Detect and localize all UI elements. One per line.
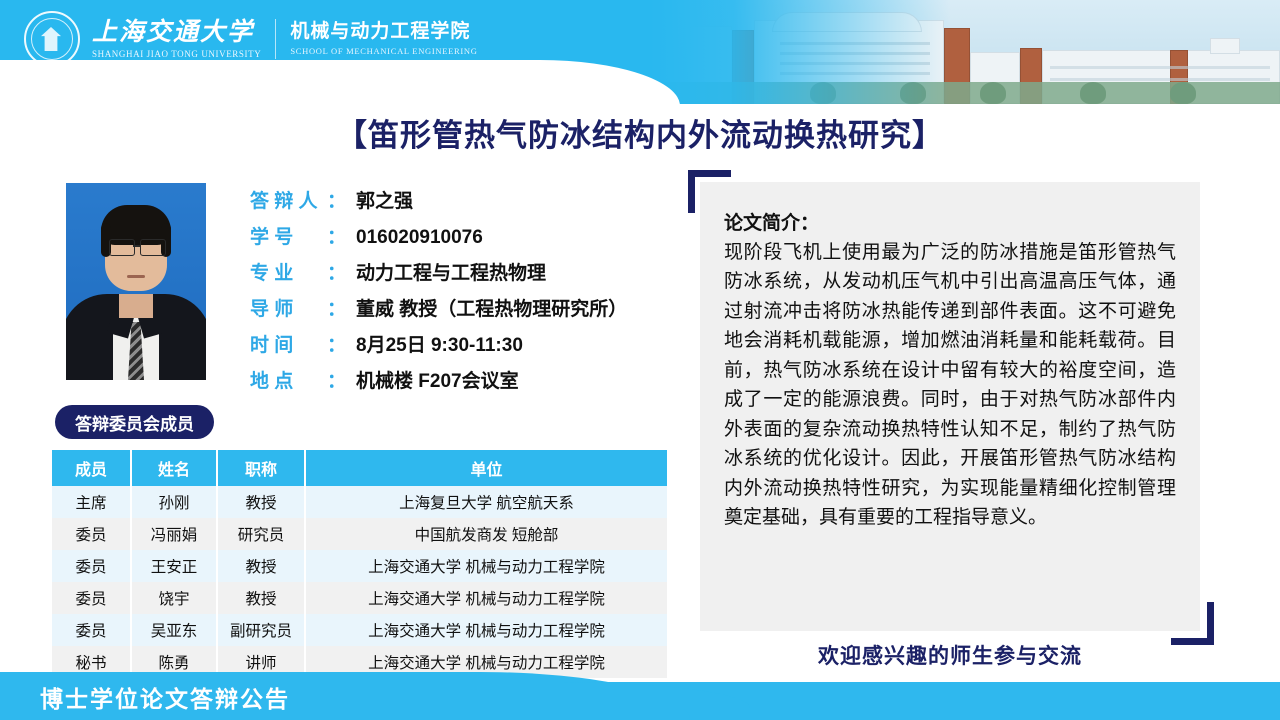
info-label-text: 学 号 [250, 222, 293, 249]
cell-name: 冯丽娟 [131, 518, 217, 550]
photo-tree [1080, 82, 1106, 104]
campus-building-photo [650, 0, 1280, 104]
header-curve-mask [0, 60, 680, 104]
column-header-name: 姓名 [131, 450, 217, 486]
info-row-time: 时 间 ： 8月25日 9:30-11:30 [250, 330, 710, 357]
university-name-cn: 上海交通大学 [92, 20, 261, 45]
portrait-mouth [127, 275, 145, 278]
cell-title: 研究员 [217, 518, 305, 550]
abstract-heading: 论文简介： [724, 208, 1176, 235]
committee-table: 成员 姓名 职称 单位 主席 孙刚 教授 上海复旦大学 航空航天系 委员 冯丽娟… [52, 450, 667, 678]
cell-title: 教授 [217, 582, 305, 614]
portrait-glasses-bridge [133, 245, 140, 247]
info-label-text: 导 师 [250, 294, 293, 321]
table-row: 主席 孙刚 教授 上海复旦大学 航空航天系 [52, 486, 667, 518]
cell-name: 孙刚 [131, 486, 217, 518]
info-label: 导 师 ： [250, 294, 346, 321]
info-label: 学 号 ： [250, 222, 346, 249]
cell-affiliation: 上海交通大学 机械与动力工程学院 [305, 582, 667, 614]
table-row: 委员 冯丽娟 研究员 中国航发商发 短舱部 [52, 518, 667, 550]
cell-affiliation: 上海交通大学 机械与动力工程学院 [305, 550, 667, 582]
info-label-text: 时 间 [250, 330, 293, 357]
info-value: 016020910076 [356, 227, 483, 249]
photo-tree [980, 82, 1006, 104]
abstract-body: 现阶段飞机上使用最为广泛的防冰措施是笛形管热气防冰系统，从发动机压气机中引出高温… [724, 238, 1176, 532]
portrait-neck [119, 294, 153, 318]
table-row: 委员 吴亚东 副研究员 上海交通大学 机械与动力工程学院 [52, 614, 667, 646]
cell-name: 吴亚东 [131, 614, 217, 646]
info-label: 时 间 ： [250, 330, 346, 357]
cell-title: 教授 [217, 550, 305, 582]
info-label-text: 地 点 [250, 366, 293, 393]
cell-affiliation: 上海复旦大学 航空航天系 [305, 486, 667, 518]
info-label: 地 点 ： [250, 366, 346, 393]
cell-member: 委员 [52, 582, 131, 614]
info-row-advisor: 导 师 ： 董威 教授（工程热物理研究所） [250, 294, 710, 321]
info-label-colon: ： [327, 294, 346, 321]
school-name-en: SCHOOL OF MECHANICAL ENGINEERING [290, 46, 477, 56]
welcome-message: 欢迎感兴趣的师生参与交流 [700, 640, 1200, 670]
logo-divider [275, 19, 276, 59]
portrait-glasses-right [140, 239, 166, 256]
info-row-location: 地 点 ： 机械楼 F207会议室 [250, 366, 710, 393]
photo-window-row [1050, 78, 1270, 81]
cell-affiliation: 中国航发商发 短舱部 [305, 518, 667, 550]
cell-title: 副研究员 [217, 614, 305, 646]
photo-fade-overlay [650, 0, 950, 104]
info-value: 8月25日 9:30-11:30 [356, 330, 523, 357]
committee-badge: 答辩委员会成员 [55, 405, 214, 439]
portrait-glasses-left [109, 239, 135, 256]
info-label-colon: ： [327, 366, 346, 393]
info-label-colon: ： [327, 186, 346, 213]
school-name-cn: 机械与动力工程学院 [290, 22, 477, 41]
table-row: 委员 王安正 教授 上海交通大学 机械与动力工程学院 [52, 550, 667, 582]
candidate-info-list: 答 辩 人 ： 郭之强 学 号 ： 016020910076 专 业 ： 动力工… [250, 186, 710, 402]
photo-tree [1170, 82, 1196, 104]
page-title: 【笛形管热气防冰结构内外流动换热研究】 [0, 110, 1280, 155]
info-row-defender: 答 辩 人 ： 郭之强 [250, 186, 710, 213]
photo-window-row [1050, 66, 1270, 69]
announcement-poster: 上海交通大学 SHANGHAI JIAO TONG UNIVERSITY 机械与… [0, 0, 1280, 720]
cell-member: 委员 [52, 518, 131, 550]
info-value: 董威 教授（工程热物理研究所） [356, 294, 627, 321]
table-row: 委员 饶宇 教授 上海交通大学 机械与动力工程学院 [52, 582, 667, 614]
photo-building-roof-box [1210, 38, 1240, 54]
info-row-major: 专 业 ： 动力工程与工程热物理 [250, 258, 710, 285]
cell-name: 饶宇 [131, 582, 217, 614]
info-label-colon: ： [327, 258, 346, 285]
cell-title: 教授 [217, 486, 305, 518]
info-value: 郭之强 [356, 186, 413, 213]
info-label-text: 专 业 [250, 258, 293, 285]
table-header-row: 成员 姓名 职称 单位 [52, 450, 667, 486]
abstract-panel: 论文简介： 现阶段飞机上使用最为广泛的防冰措施是笛形管热气防冰系统，从发动机压气… [700, 182, 1200, 631]
info-row-student-id: 学 号 ： 016020910076 [250, 222, 710, 249]
footer-title: 博士学位论文答辩公告 [40, 680, 290, 714]
university-seal-icon [24, 11, 80, 67]
info-value: 动力工程与工程热物理 [356, 258, 546, 285]
info-label-colon: ： [327, 330, 346, 357]
info-label: 答 辩 人 ： [250, 186, 346, 213]
cell-member: 委员 [52, 550, 131, 582]
info-label-colon: ： [327, 222, 346, 249]
info-label-text: 答 辩 人 [250, 186, 318, 213]
university-name-en: SHANGHAI JIAO TONG UNIVERSITY [92, 49, 261, 59]
footer-bar: 博士学位论文答辩公告 [0, 672, 1280, 720]
candidate-portrait-photo [66, 183, 206, 380]
cell-affiliation: 上海交通大学 机械与动力工程学院 [305, 614, 667, 646]
column-header-member: 成员 [52, 450, 131, 486]
cell-member: 委员 [52, 614, 131, 646]
cell-name: 王安正 [131, 550, 217, 582]
column-header-affiliation: 单位 [305, 450, 667, 486]
column-header-title: 职称 [217, 450, 305, 486]
corner-bracket-bottom-right [1171, 602, 1214, 645]
info-value: 机械楼 F207会议室 [356, 366, 519, 393]
corner-bracket-top-left [688, 170, 731, 213]
cell-member: 主席 [52, 486, 131, 518]
header-banner: 上海交通大学 SHANGHAI JIAO TONG UNIVERSITY 机械与… [0, 0, 1280, 104]
info-label: 专 业 ： [250, 258, 346, 285]
university-logo: 上海交通大学 SHANGHAI JIAO TONG UNIVERSITY 机械与… [24, 12, 478, 66]
